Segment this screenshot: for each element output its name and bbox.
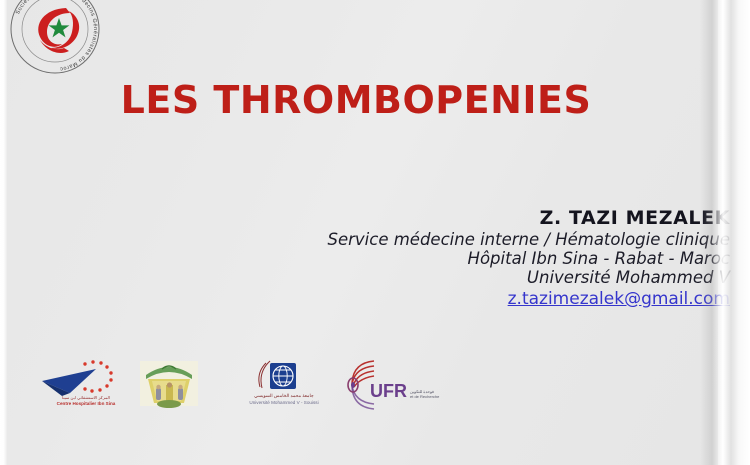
footer-logo-row: المركز الاستشفائي ابن سينا Centre Hospit… — [40, 355, 460, 415]
ufr-logo: UFR فوحدة للتكوين et de Recherche — [340, 355, 448, 410]
affiliation-line-3: Université Mohammed V — [260, 268, 730, 287]
svg-text:جامعة محمد الخامس السويسي: جامعة محمد الخامس السويسي — [254, 393, 314, 399]
svg-text:UFR: UFR — [370, 381, 407, 401]
society-seal-logo: Société Nationale des Médecins Généralis… — [4, 0, 106, 80]
affiliation-line-2: Hôpital Ibn Sina - Rabat - Maroc — [260, 249, 730, 268]
page-right-edge — [700, 0, 750, 465]
affiliation-line-1: Service médecine interne / Hématologie c… — [260, 230, 730, 249]
svg-text:et de Recherche: et de Recherche — [410, 394, 440, 399]
chu-ibn-sina-logo: المركز الاستشفائي ابن سينا Centre Hospit… — [40, 355, 132, 410]
author-name: Z. TAZI MEZALEK — [260, 206, 730, 230]
pavilion-emblem-logo — [134, 355, 204, 410]
svg-text:Université Mohammed V - Souiss: Université Mohammed V - Souissi — [249, 400, 318, 405]
svg-text:Centre Hospitalier Ibn Sina: Centre Hospitalier Ibn Sina — [57, 401, 116, 406]
universite-mohammed-v-souissi-logo: جامعة محمد الخامس السويسي Université Moh… — [228, 355, 340, 410]
page-title: LES THROMBOPENIES — [0, 78, 712, 122]
author-block: Z. TAZI MEZALEK Service médecine interne… — [260, 206, 730, 310]
author-email-link[interactable]: z.tazimezalek@gmail.com — [508, 288, 730, 310]
slide-canvas: Société Nationale des Médecins Généralis… — [0, 0, 750, 465]
svg-text:المركز الاستشفائي ابن سينا: المركز الاستشفائي ابن سينا — [62, 395, 110, 400]
